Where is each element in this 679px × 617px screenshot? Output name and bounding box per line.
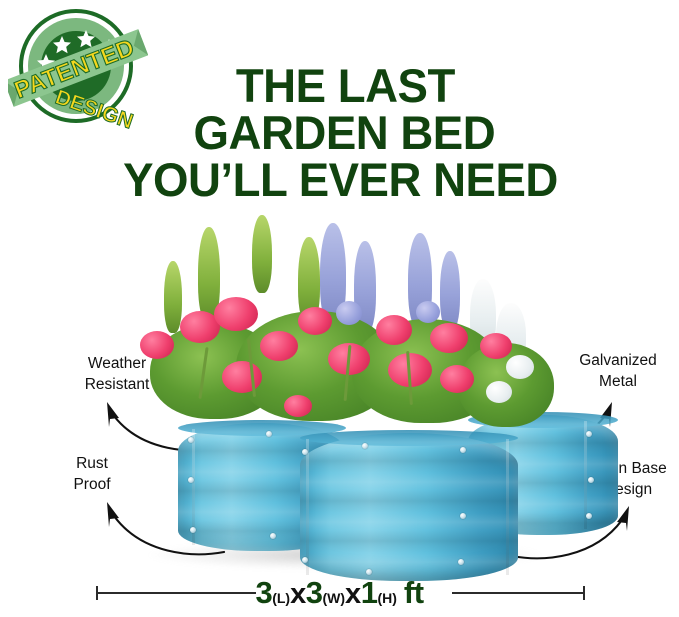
dimension-height-label: (H) — [377, 590, 396, 606]
dimension-callout: 3(L)x3(W)x1(H)ft — [0, 573, 679, 617]
headline-line-1: THE LAST — [10, 62, 669, 109]
planter-screw — [458, 559, 464, 565]
planter-screw — [586, 431, 592, 437]
product-infographic: PATENTED DESIGN THE LAST GARDEN BED YOU’… — [0, 0, 679, 617]
callout-galvanized-metal-line2: Metal — [556, 371, 679, 392]
planter-screw — [586, 513, 592, 519]
dimension-multiply-2: x — [345, 578, 361, 610]
plant-arrangement — [140, 215, 560, 455]
dimension-length-label: (L) — [272, 590, 290, 606]
dimension-width: 3 — [306, 575, 323, 610]
planter-ribs-center — [300, 433, 518, 581]
headline: THE LAST GARDEN BED YOU’LL EVER NEED — [10, 62, 669, 203]
dimension-text: 3(L)x3(W)x1(H)ft — [0, 573, 679, 617]
dimension-length: 3 — [255, 575, 272, 610]
callout-rust-proof: Rust Proof — [34, 453, 150, 495]
dimension-width-label: (W) — [323, 590, 346, 606]
planter-screw — [302, 449, 308, 455]
headline-line-3: YOU’LL EVER NEED — [10, 156, 669, 203]
dimension-multiply-1: x — [290, 578, 306, 610]
planter-screw — [188, 477, 194, 483]
planter-screw — [362, 443, 368, 449]
planter-seam — [306, 439, 309, 575]
callout-rust-proof-line1: Rust — [34, 453, 150, 474]
planter-screw — [190, 527, 196, 533]
headline-line-2: GARDEN BED — [10, 109, 669, 156]
callout-galvanized-metal-line1: Galvanized — [556, 350, 679, 371]
callout-galvanized-metal: Galvanized Metal — [556, 350, 679, 392]
planter-screw — [460, 447, 466, 453]
planter-screw — [302, 557, 308, 563]
planter-screw — [270, 533, 276, 539]
planter-screw — [366, 569, 372, 575]
planter-lobe-center — [300, 433, 518, 581]
planter-screw — [460, 513, 466, 519]
planter-seam — [506, 439, 509, 575]
callout-rust-proof-line2: Proof — [34, 474, 150, 495]
planter-screw — [588, 477, 594, 483]
